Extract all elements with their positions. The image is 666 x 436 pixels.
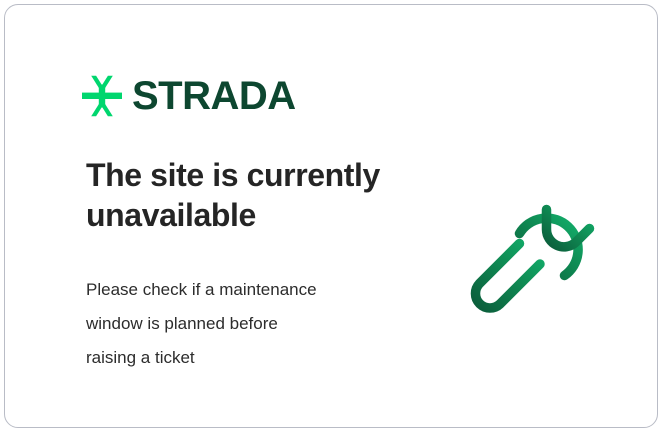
brand-wordmark: STRADA: [132, 76, 296, 116]
description-line: raising a ticket: [86, 341, 406, 375]
brand-logo: STRADA: [81, 71, 296, 121]
page-title: The site is currently unavailable: [86, 155, 416, 236]
page-description: Please check if a maintenance window is …: [86, 273, 406, 375]
error-card: STRADA The site is currently unavailable…: [4, 4, 658, 428]
description-line: window is planned before: [86, 307, 406, 341]
wrench-illustration: [460, 157, 620, 317]
description-line: Please check if a maintenance: [86, 273, 406, 307]
wrench-icon: [460, 157, 620, 317]
asterisk-star-logo-icon: [81, 75, 123, 117]
error-page: STRADA The site is currently unavailable…: [0, 0, 666, 436]
